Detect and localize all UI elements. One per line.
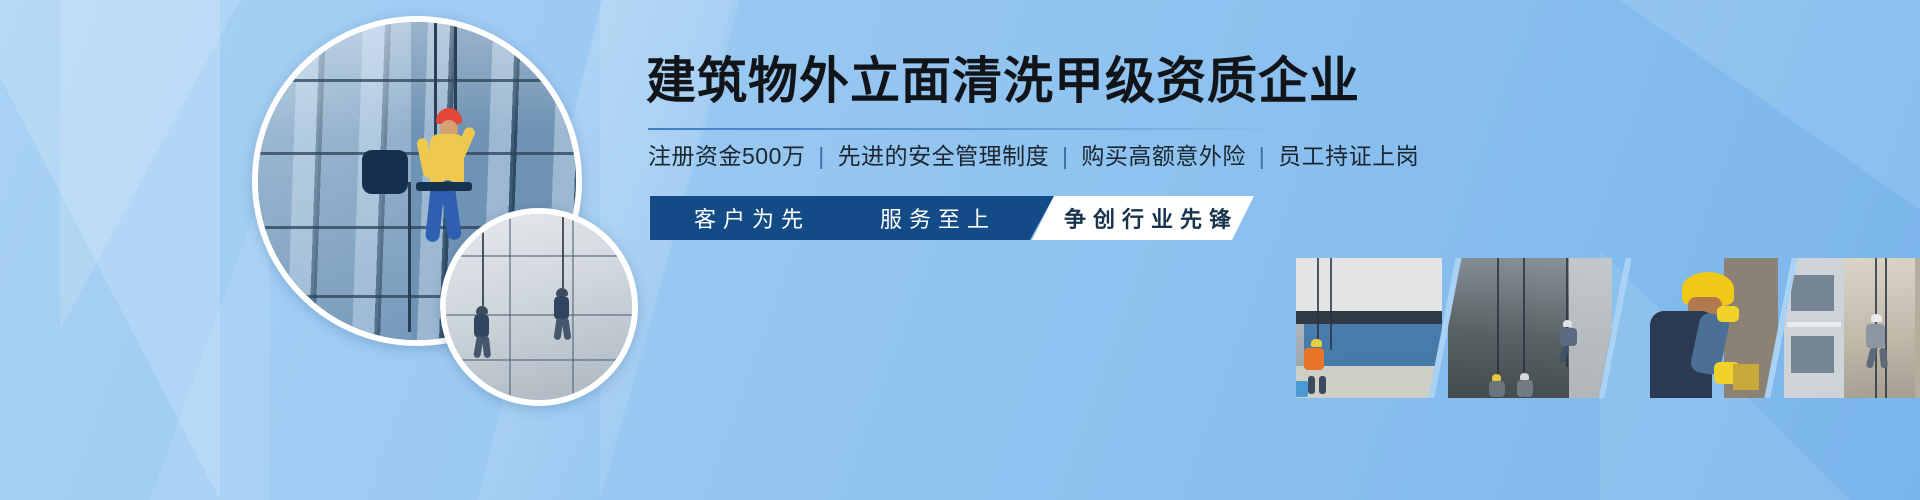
circle-photo-grey-facade — [440, 208, 638, 406]
banner-headline: 建筑物外立面清洗甲级资质企业 — [646, 52, 1360, 110]
strip-photo-1 — [1296, 258, 1456, 398]
subtitle-item-3: 购买高额意外险 — [1081, 143, 1246, 169]
banner-content: 建筑物外立面清洗甲级资质企业 注册资金500万 | 先进的安全管理制度 | 购买… — [646, 0, 1920, 500]
slogan-service-supreme: 服务至上 — [880, 196, 996, 240]
background-triangle-2 — [60, 0, 240, 330]
promo-banner: 建筑物外立面清洗甲级资质企业 注册资金500万 | 先进的安全管理制度 | 购买… — [0, 0, 1920, 500]
subtitle-separator-1: | — [812, 143, 830, 169]
photo-strip — [1296, 258, 1920, 398]
slogan-customer-first: 客户为先 — [694, 196, 810, 240]
subtitle-separator-2: | — [1056, 143, 1074, 169]
subtitle-item-1: 注册资金500万 — [648, 143, 805, 169]
grey-facade-image — [446, 214, 632, 400]
headline-divider — [648, 128, 1284, 130]
slogan-industry-pioneer: 争创行业先锋 — [1064, 196, 1238, 240]
subtitle-item-2: 先进的安全管理制度 — [838, 143, 1050, 169]
slogan-ribbon: 客户为先 服务至上 争创行业先锋 — [650, 196, 1250, 240]
subtitle-separator-3: | — [1253, 143, 1271, 169]
background-triangle-1 — [0, 0, 220, 500]
strip-photo-2 — [1434, 258, 1625, 398]
subtitle-item-4: 员工持证上岗 — [1278, 143, 1419, 169]
building-facade — [446, 214, 632, 400]
background-triangle-3 — [150, 170, 270, 500]
strip-photo-3 — [1604, 258, 1791, 398]
strip-photo-4 — [1770, 258, 1920, 398]
banner-subtitle: 注册资金500万 | 先进的安全管理制度 | 购买高额意外险 | 员工持证上岗 — [648, 140, 1419, 172]
